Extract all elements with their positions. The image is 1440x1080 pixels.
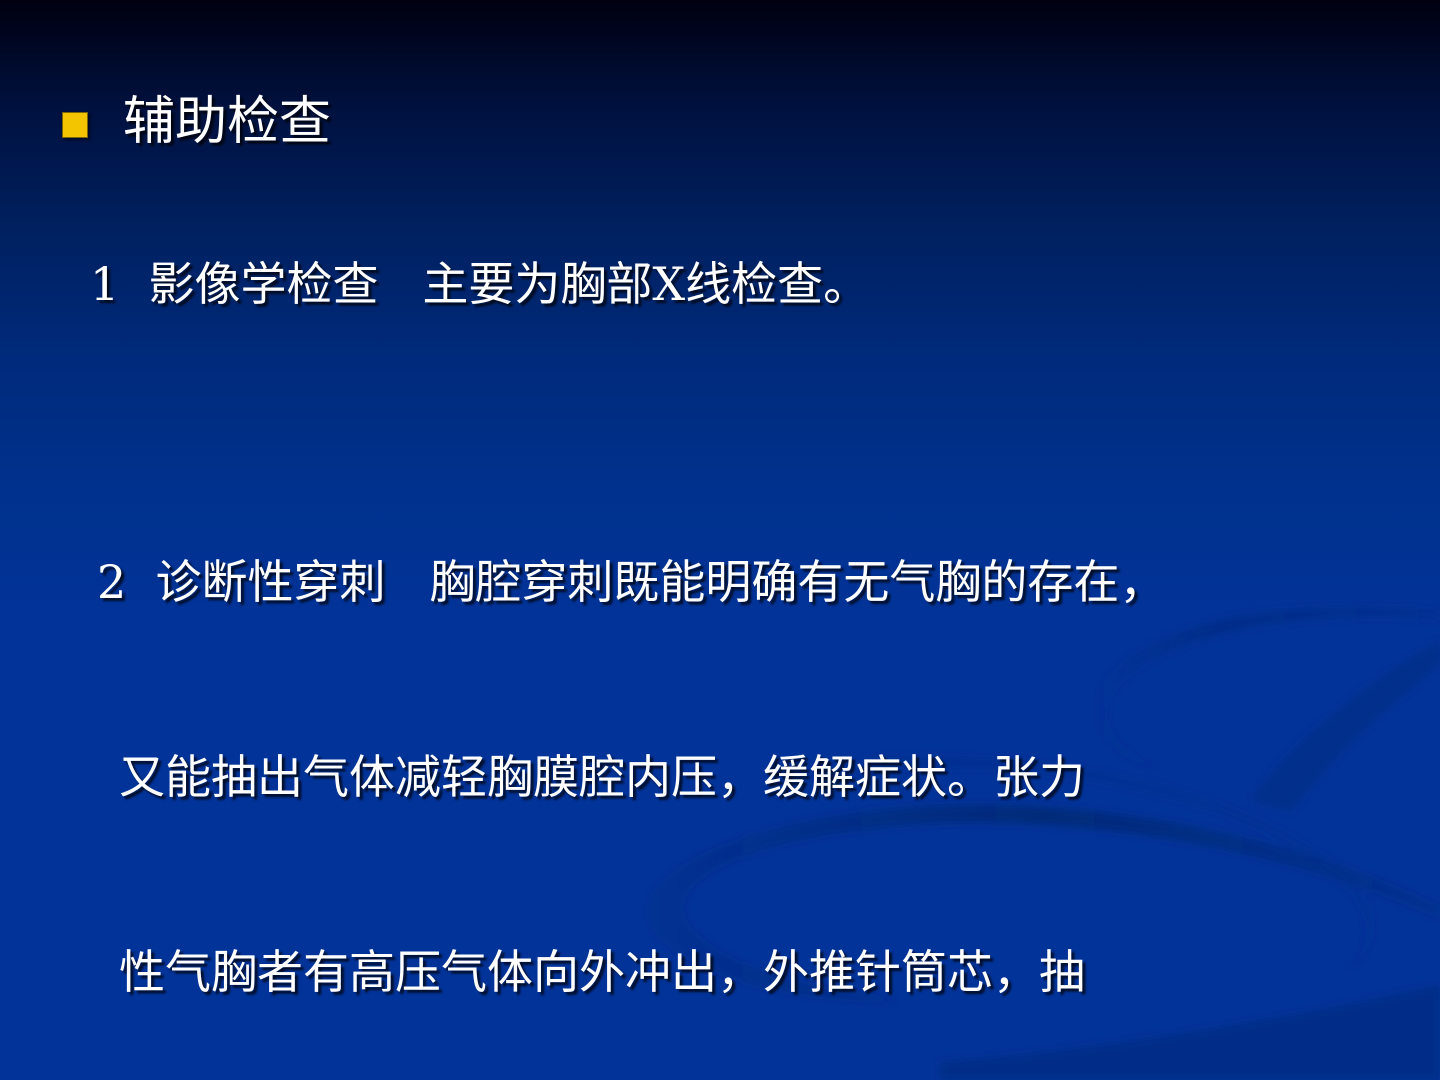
body-item-1: 1 影像学检查 主要为胸部X线检查。: [90, 252, 1410, 317]
page-title: 辅助检查: [123, 96, 331, 148]
body-item-2-line-2: 又能抽出气体减轻胸膜腔内压，缓解症状。张力: [97, 745, 1427, 810]
body-item-2-line-1: 2 诊断性穿刺 胸腔穿刺既能明确有无气胸的存在，: [97, 550, 1427, 615]
slide-content: 辅助检查 1 影像学检查 主要为胸部X线检查。 2 诊断性穿刺 胸腔穿刺既能明确…: [0, 0, 1440, 1080]
slide-title-row: 辅助检查: [62, 96, 331, 148]
presentation-slide: 辅助检查 1 影像学检查 主要为胸部X线检查。 2 诊断性穿刺 胸腔穿刺既能明确…: [0, 0, 1440, 1080]
square-bullet-icon: [62, 112, 88, 138]
body-item-2-line-3: 性气胸者有高压气体向外冲出，外推针筒芯，抽: [97, 940, 1427, 1005]
body-item-2: 2 诊断性穿刺 胸腔穿刺既能明确有无气胸的存在， 又能抽出气体减轻胸膜腔内压，缓…: [97, 420, 1427, 1080]
